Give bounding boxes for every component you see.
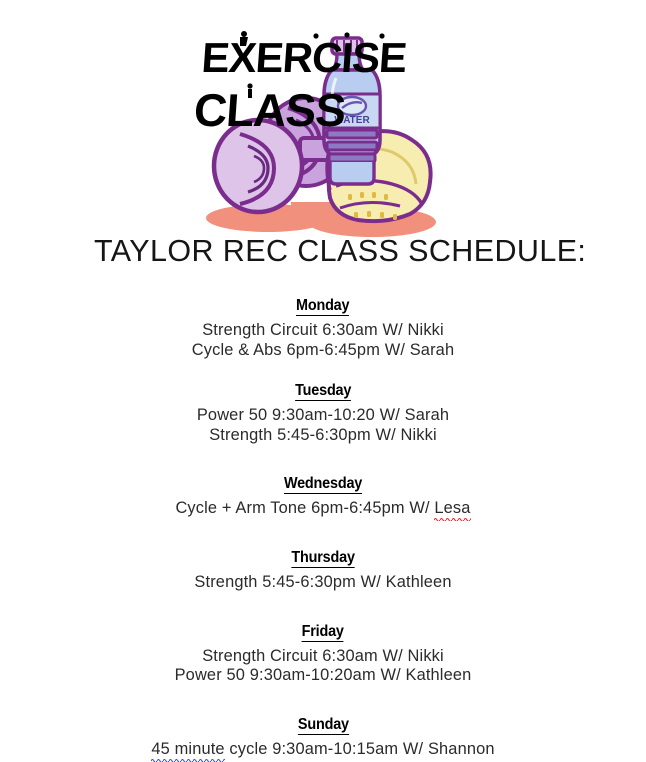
class-list-tuesday: Power 50 9:30am-10:20 W/ Sarah Strength … <box>0 406 646 445</box>
class-entry: Cycle + Arm Tone 6pm-6:45pm W/ Lesa <box>0 499 646 519</box>
exercise-class-logo: WATER EXERCISE CLASS <box>0 0 646 232</box>
class-entry: Cycle & Abs 6pm-6:45pm W/ Sarah <box>0 341 646 361</box>
class-entry-text: Cycle + Arm Tone 6pm-6:45pm W/ <box>175 499 434 517</box>
class-entry: Strength 5:45-6:30pm W/ Nikki <box>0 426 646 446</box>
day-block-sunday: Sunday 45 minute cycle 9:30am-10:15am W/… <box>0 715 646 760</box>
day-block-wednesday: Wednesday Cycle + Arm Tone 6pm-6:45pm W/… <box>0 474 646 519</box>
day-block-monday: Monday Strength Circuit 6:30am W/ Nikki … <box>0 296 646 360</box>
day-heading-friday: Friday <box>302 622 344 642</box>
class-entry: 45 minute cycle 9:30am-10:15am W/ Shanno… <box>0 740 646 760</box>
day-heading-wednesday: Wednesday <box>284 474 362 494</box>
class-schedule-list: Monday Strength Circuit 6:30am W/ Nikki … <box>0 296 646 759</box>
class-entry: Power 50 9:30am-10:20am W/ Kathleen <box>0 666 646 686</box>
day-block-thursday: Thursday Strength 5:45-6:30pm W/ Kathlee… <box>0 548 646 593</box>
class-list-wednesday: Cycle + Arm Tone 6pm-6:45pm W/ Lesa <box>0 499 646 519</box>
class-entry: Strength 5:45-6:30pm W/ Kathleen <box>0 573 646 593</box>
class-list-monday: Strength Circuit 6:30am W/ Nikki Cycle &… <box>0 321 646 360</box>
day-block-friday: Friday Strength Circuit 6:30am W/ Nikki … <box>0 622 646 686</box>
day-heading-tuesday: Tuesday <box>295 381 351 401</box>
day-block-tuesday: Tuesday Power 50 9:30am-10:20 W/ Sarah S… <box>0 381 646 445</box>
class-list-thursday: Strength 5:45-6:30pm W/ Kathleen <box>0 573 646 593</box>
class-list-friday: Strength Circuit 6:30am W/ Nikki Power 5… <box>0 647 646 686</box>
logo-figure-accents-2 <box>247 83 252 98</box>
day-heading-sunday: Sunday <box>298 715 349 735</box>
day-heading-monday: Monday <box>296 296 349 316</box>
day-heading-thursday: Thursday <box>291 548 354 568</box>
class-entry: Strength Circuit 6:30am W/ Nikki <box>0 647 646 667</box>
misspelled-word-lesa: Lesa <box>434 499 470 519</box>
class-entry-text: cycle 9:30am-10:15am W/ Shannon <box>225 740 495 758</box>
exercise-class-clipart: WATER EXERCISE CLASS <box>196 26 452 238</box>
class-entry: Power 50 9:30am-10:20 W/ Sarah <box>0 406 646 426</box>
grammar-flagged-phrase: 45 minute <box>151 740 224 760</box>
logo-word-exercise: EXERCISE <box>200 34 408 81</box>
class-list-sunday: 45 minute cycle 9:30am-10:15am W/ Shanno… <box>0 740 646 760</box>
logo-word-class: CLASS <box>196 84 347 136</box>
schedule-flyer: WATER EXERCISE CLASS <box>0 0 646 751</box>
class-entry: Strength Circuit 6:30am W/ Nikki <box>0 321 646 341</box>
